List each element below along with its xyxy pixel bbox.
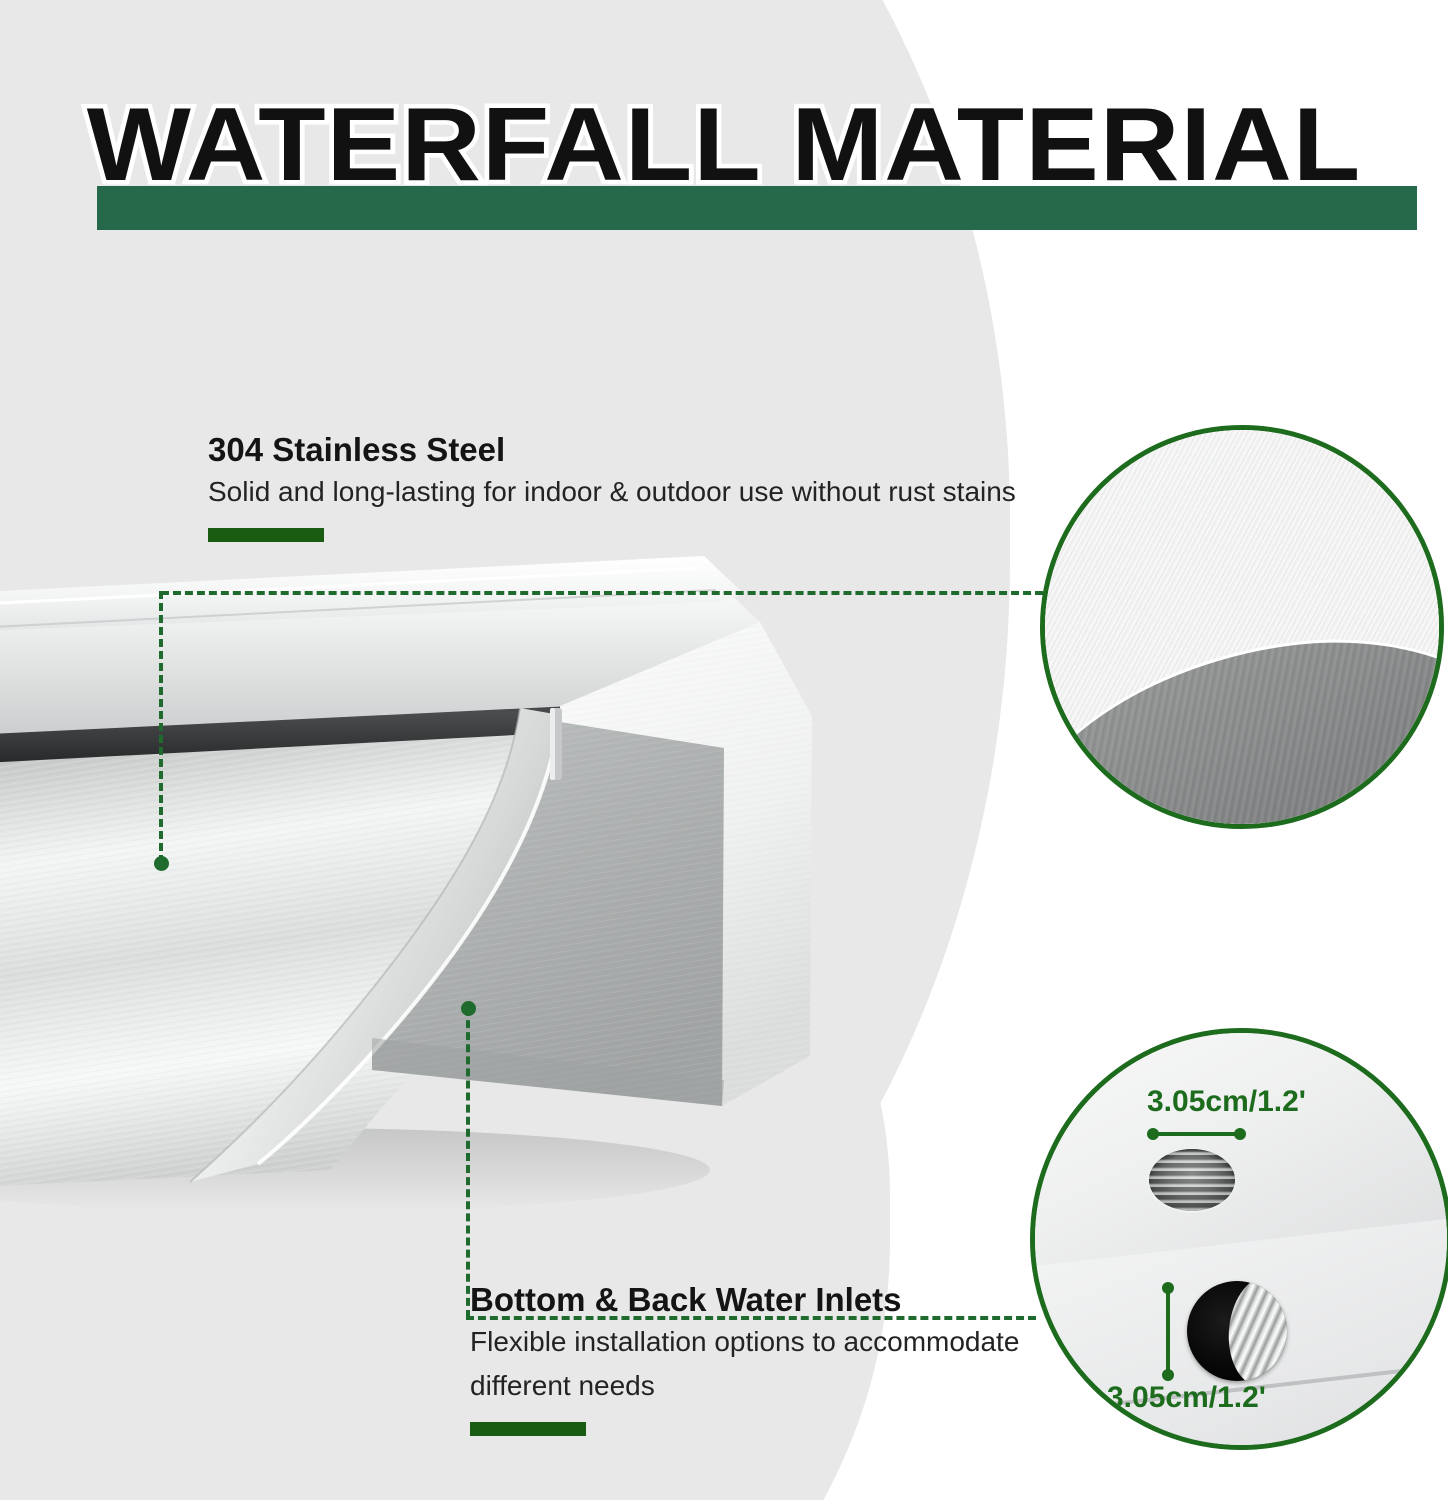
bottom-inlet-dimension-line [1166,1287,1170,1375]
feature-accent-rule-water-inlets [470,1422,586,1436]
leader-endpoint-dot [154,856,169,871]
bottom-inlet-dimension-label: 3.05cm/1.2' [1107,1381,1266,1415]
callout-circle-inlet-closeup: 3.05cm/1.2' 3.05cm/1.2' [1030,1028,1448,1450]
infographic-page: WATERFALL MATERIAL [0,0,1448,1500]
bottom-inlet-dimension-dot-bottom [1162,1369,1174,1381]
back-inlet-dimension-dot-left [1147,1128,1159,1140]
page-title: WATERFALL MATERIAL [0,86,1448,204]
leader-segment-vertical [159,591,163,863]
feature-title-water-inlets: Bottom & Back Water Inlets [470,1280,1050,1320]
callout-circle-steel-closeup [1040,425,1444,829]
product-image [0,510,930,1230]
leader-segment-horizontal [466,1316,1036,1320]
feature-block-stainless-steel: 304 Stainless Steel Solid and long-lasti… [208,430,1016,542]
feature-block-water-inlets: Bottom & Back Water Inlets Flexible inst… [470,1280,1050,1436]
bottom-inlet-hole [1187,1281,1287,1381]
feature-description-water-inlets: Flexible installation options to accommo… [470,1320,1050,1408]
leader-segment-horizontal [161,591,1043,595]
bottom-inlet-dimension-dot-top [1162,1282,1174,1294]
feature-description-stainless-steel: Solid and long-lasting for indoor & outd… [208,470,1016,514]
back-inlet-hole [1149,1149,1235,1211]
back-inlet-dimension-dot-right [1234,1128,1246,1140]
back-inlet-dimension-line [1152,1132,1240,1136]
leader-segment-vertical [466,1008,470,1318]
feature-title-stainless-steel: 304 Stainless Steel [208,430,1016,470]
feature-accent-rule-stainless-steel [208,528,324,542]
back-inlet-dimension-label: 3.05cm/1.2' [1147,1085,1306,1119]
